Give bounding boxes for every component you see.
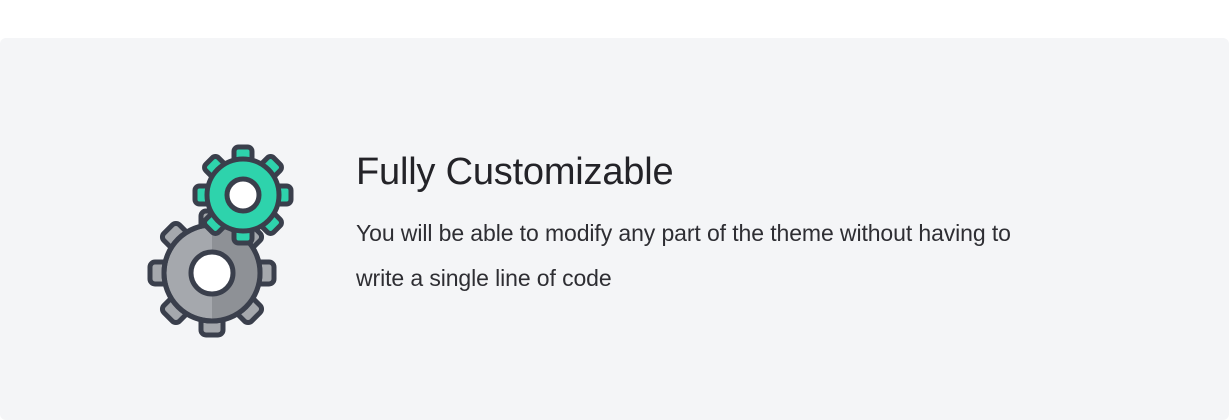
- feature-card-content: Fully Customizable You will be able to m…: [0, 38, 1229, 420]
- feature-description: You will be able to modify any part of t…: [356, 194, 1056, 301]
- feature-text-block: Fully Customizable You will be able to m…: [356, 150, 1096, 301]
- feature-title: Fully Customizable: [356, 150, 1096, 194]
- feature-card: Fully Customizable You will be able to m…: [0, 38, 1229, 420]
- small-teal-gear: [195, 147, 291, 243]
- gears-icon: [152, 148, 292, 288]
